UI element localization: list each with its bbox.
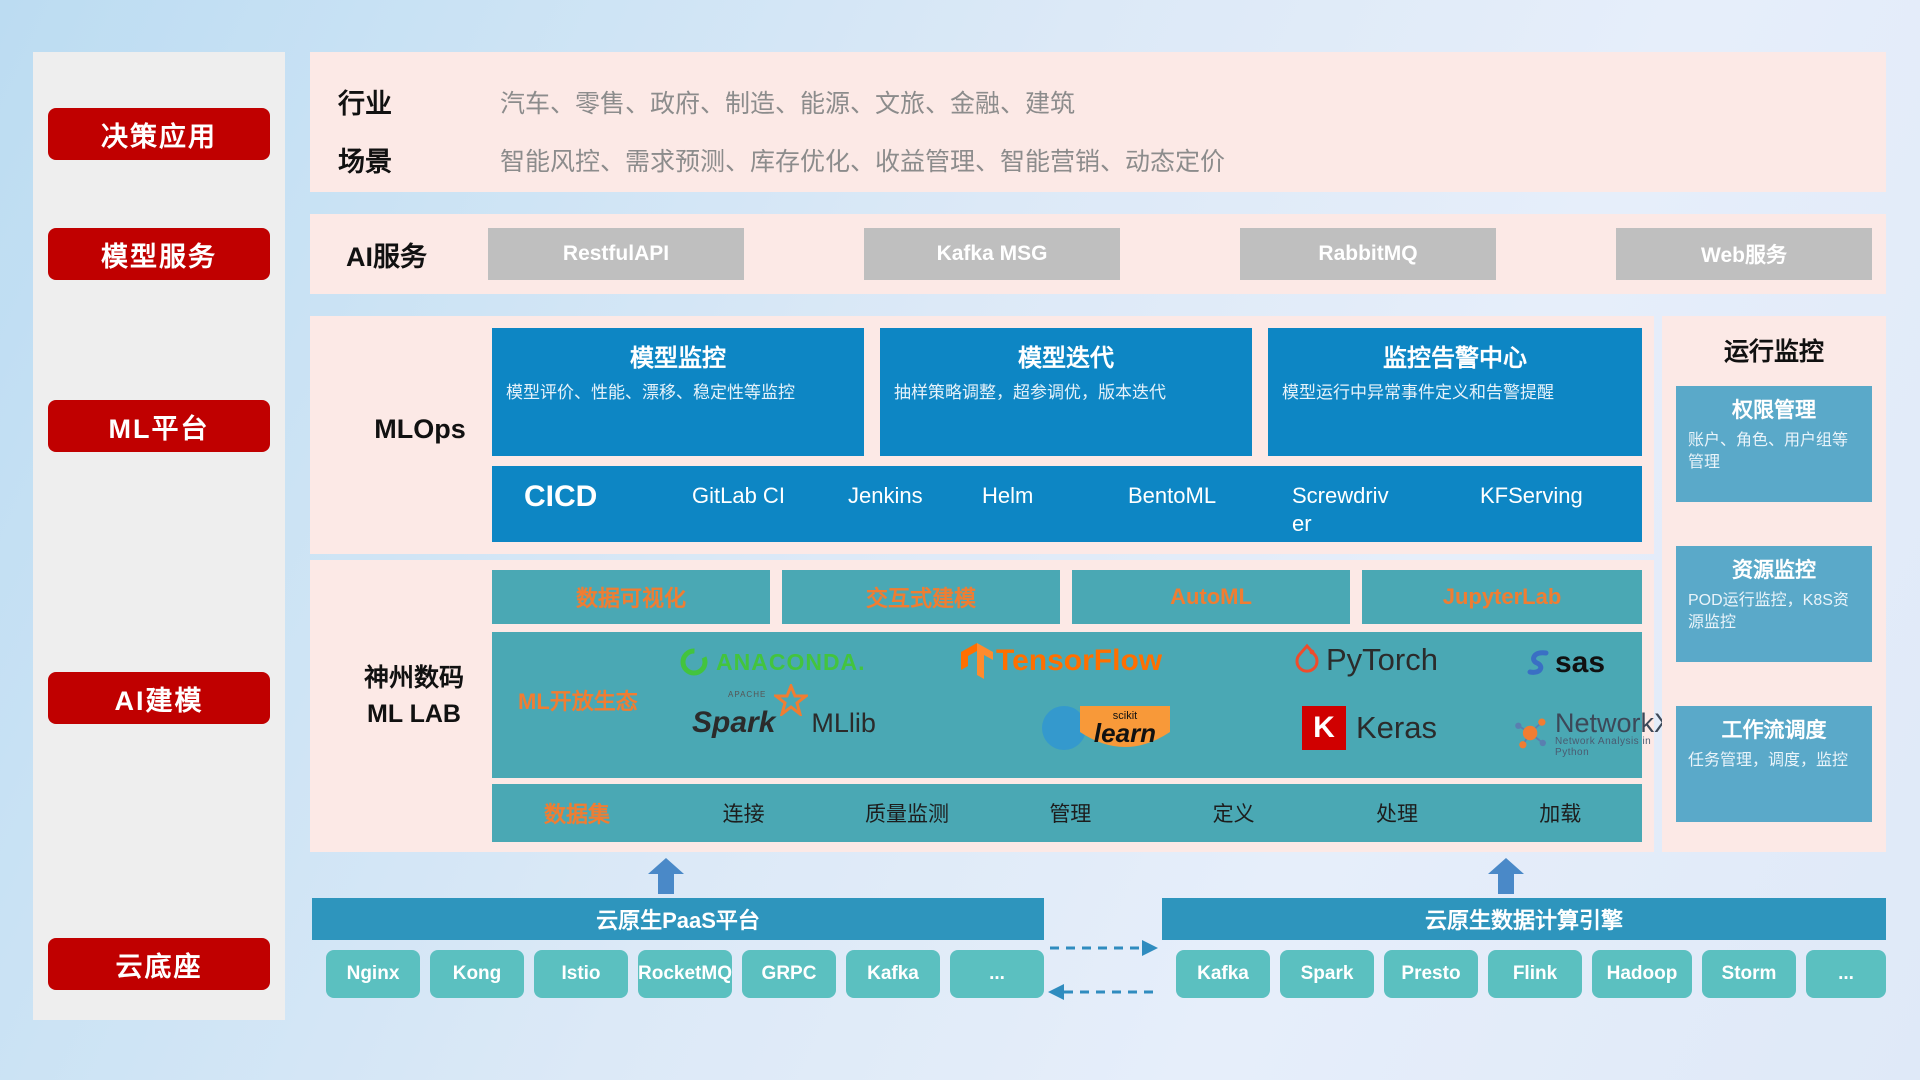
monitor-card-desc: 账户、角色、用户组等管理 <box>1688 430 1860 475</box>
monitor-card-permission[interactable]: 权限管理 账户、角色、用户组等管理 <box>1676 386 1872 502</box>
paas-up-arrow-icon <box>646 858 686 894</box>
tensorflow-mark <box>960 642 994 680</box>
mllib-wordmark: MLlib <box>811 708 876 739</box>
mlops-card-desc: 模型运行中异常事件定义和告警提醒 <box>1282 381 1628 406</box>
spark-wordmark: Spark <box>692 706 775 739</box>
rail-item-model-service[interactable]: 模型服务 <box>48 228 270 280</box>
dataset-item-manage[interactable]: 管理 <box>989 798 1152 828</box>
engine-chip-flink[interactable]: Flink <box>1488 950 1582 998</box>
service-chip-restfulapi[interactable]: RestfulAPI <box>488 228 744 280</box>
paas-chip-kong[interactable]: Kong <box>430 950 524 998</box>
networkx-logo: NetworkX Network Analysis in Python <box>1512 708 1676 758</box>
cicd-strip: CICD GitLab CI Jenkins Helm BentoML Scre… <box>492 466 1642 542</box>
industry-list: 汽车、零售、政府、制造、能源、文旅、金融、建筑 <box>500 84 1075 120</box>
monitor-card-workflow[interactable]: 工作流调度 任务管理，调度，监控 <box>1676 706 1872 822</box>
engine-chip-presto[interactable]: Presto <box>1384 950 1478 998</box>
tensorflow-logo: TensorFlow <box>960 642 1162 680</box>
ai-modeling-band: 神州数码 ML LAB 数据可视化 交互式建模 AutoML JupyterLa… <box>310 560 1654 852</box>
sas-mark <box>1524 648 1554 678</box>
dataset-label: 数据集 <box>492 797 662 829</box>
monitor-card-resource[interactable]: 资源监控 POD运行监控，K8S资源监控 <box>1676 546 1872 662</box>
paas-chip-grpc[interactable]: GRPC <box>742 950 836 998</box>
paas-platform-header: 云原生PaaS平台 <box>312 898 1044 940</box>
mlops-card-desc: 抽样策略调整，超参调优，版本迭代 <box>894 381 1238 406</box>
cicd-item-kfserving[interactable]: KFServing <box>1480 482 1588 510</box>
rail-item-ml-platform[interactable]: ML平台 <box>48 400 270 452</box>
dataset-item-load[interactable]: 加载 <box>1479 798 1642 828</box>
ml-open-ecosystem-box: ML开放生态 ANACONDA. TensorFlow <box>492 632 1642 778</box>
paas-chip-more[interactable]: ... <box>950 950 1044 998</box>
monitor-card-desc: POD运行监控，K8S资源监控 <box>1688 590 1860 635</box>
cicd-label: CICD <box>524 480 597 514</box>
engine-chip-storm[interactable]: Storm <box>1702 950 1796 998</box>
monitor-card-desc: 任务管理，调度，监控 <box>1688 750 1860 772</box>
mlops-label: MLOps <box>350 411 490 447</box>
cicd-item-bentoml[interactable]: BentoML <box>1128 482 1236 510</box>
paas-chip-kafka[interactable]: Kafka <box>846 950 940 998</box>
tool-chip-interactive[interactable]: 交互式建模 <box>782 570 1060 624</box>
data-engine-header: 云原生数据计算引擎 <box>1162 898 1886 940</box>
engine-chip-kafka[interactable]: Kafka <box>1176 950 1270 998</box>
tool-chip-jupyterlab[interactable]: JupyterLab <box>1362 570 1642 624</box>
learn-wordmark: learn <box>1078 718 1172 749</box>
sas-logo: sas <box>1524 646 1605 680</box>
engine-chip-hadoop[interactable]: Hadoop <box>1592 950 1692 998</box>
cicd-item-screwdriver[interactable]: Screwdriver <box>1292 482 1400 537</box>
engine-chip-spark[interactable]: Spark <box>1280 950 1374 998</box>
scenario-label: 场景 <box>338 140 392 179</box>
cicd-item-gitlab-ci[interactable]: GitLab CI <box>692 482 800 510</box>
mlops-card-desc: 模型评价、性能、漂移、稳定性等监控 <box>506 381 850 406</box>
rail-item-cloud-base[interactable]: 云底座 <box>48 938 270 990</box>
pytorch-wordmark: PyTorch <box>1326 642 1438 678</box>
tensorflow-wordmark: TensorFlow <box>996 644 1162 678</box>
monitor-card-title: 工作流调度 <box>1688 714 1860 744</box>
scenario-list: 智能风控、需求预测、库存优化、收益管理、智能营销、动态定价 <box>500 142 1225 178</box>
paas-chip-nginx[interactable]: Nginx <box>326 950 420 998</box>
tool-chip-data-viz[interactable]: 数据可视化 <box>492 570 770 624</box>
industry-scenario-band: 行业 汽车、零售、政府、制造、能源、文旅、金融、建筑 场景 智能风控、需求预测、… <box>310 52 1886 192</box>
anaconda-mark <box>678 646 710 678</box>
mlops-card-model-monitor[interactable]: 模型监控 模型评价、性能、漂移、稳定性等监控 <box>492 328 864 456</box>
dataset-item-connect[interactable]: 连接 <box>662 798 825 828</box>
mlops-card-title: 监控告警中心 <box>1282 338 1628 373</box>
monitor-card-title: 权限管理 <box>1688 394 1860 424</box>
cicd-item-helm[interactable]: Helm <box>982 482 1090 510</box>
mlops-card-model-iteration[interactable]: 模型迭代 抽样策略调整，超参调优，版本迭代 <box>880 328 1252 456</box>
dataset-strip: 数据集 连接 质量监测 管理 定义 处理 加载 <box>492 784 1642 842</box>
scikit-learn-logo: scikit learn <box>1038 704 1172 752</box>
runtime-monitor-title: 运行监控 <box>1662 316 1886 368</box>
service-chip-web[interactable]: Web服务 <box>1616 228 1872 280</box>
networkx-mark <box>1512 713 1550 753</box>
monitor-card-title: 资源监控 <box>1688 554 1860 584</box>
ml-open-ecosystem-label: ML开放生态 <box>518 684 638 716</box>
ai-service-band: AI服务 RestfulAPI Kafka MSG RabbitMQ Web服务 <box>310 214 1886 294</box>
mlops-band: MLOps 模型监控 模型评价、性能、漂移、稳定性等监控 模型迭代 抽样策略调整… <box>310 316 1654 554</box>
pytorch-mark <box>1292 643 1322 677</box>
dataset-item-quality[interactable]: 质量监测 <box>825 798 988 828</box>
keras-logo: K Keras <box>1302 706 1437 750</box>
ml-lab-line1: 神州数码 <box>364 664 464 692</box>
service-chip-kafka-msg[interactable]: Kafka MSG <box>864 228 1120 280</box>
tool-chip-automl[interactable]: AutoML <box>1072 570 1350 624</box>
sas-wordmark: sas <box>1555 646 1605 680</box>
left-rail <box>33 52 285 1020</box>
keras-wordmark: Keras <box>1356 710 1437 746</box>
cicd-item-jenkins[interactable]: Jenkins <box>848 482 956 510</box>
pytorch-logo: PyTorch <box>1292 642 1438 678</box>
keras-mark: K <box>1302 706 1346 750</box>
networkx-wordmark: NetworkX <box>1555 708 1676 739</box>
networkx-tagline: Network Analysis in Python <box>1555 736 1676 758</box>
data-engine-up-arrow-icon <box>1486 858 1526 894</box>
ai-service-label: AI服务 <box>346 235 427 274</box>
industry-label: 行业 <box>338 82 392 121</box>
rail-item-ai-modeling[interactable]: AI建模 <box>48 672 270 724</box>
mlops-card-title: 模型迭代 <box>894 338 1238 373</box>
spark-star-icon <box>774 684 808 716</box>
anaconda-wordmark: ANACONDA. <box>716 649 866 676</box>
paas-chip-rocketmq[interactable]: RocketMQ <box>638 950 732 998</box>
dataset-item-define[interactable]: 定义 <box>1152 798 1315 828</box>
runtime-monitor-column: 运行监控 权限管理 账户、角色、用户组等管理 资源监控 POD运行监控，K8S资… <box>1662 316 1886 852</box>
service-chip-rabbitmq[interactable]: RabbitMQ <box>1240 228 1496 280</box>
spark-mllib-logo: APACHE Spark MLlib <box>692 706 876 740</box>
mlops-card-alert-center[interactable]: 监控告警中心 模型运行中异常事件定义和告警提醒 <box>1268 328 1642 456</box>
rail-item-decision-app[interactable]: 决策应用 <box>48 108 270 160</box>
engine-chip-more[interactable]: ... <box>1806 950 1886 998</box>
ml-lab-label: 神州数码 ML LAB <box>334 660 494 733</box>
bidirectional-dashed-arrows <box>1046 936 1160 1006</box>
paas-chip-istio[interactable]: Istio <box>534 950 628 998</box>
dataset-item-process[interactable]: 处理 <box>1315 798 1478 828</box>
spark-apache-text: APACHE <box>728 690 766 699</box>
ml-lab-line2: ML LAB <box>367 700 461 728</box>
anaconda-logo: ANACONDA. <box>678 646 866 678</box>
mlops-card-title: 模型监控 <box>506 338 850 373</box>
